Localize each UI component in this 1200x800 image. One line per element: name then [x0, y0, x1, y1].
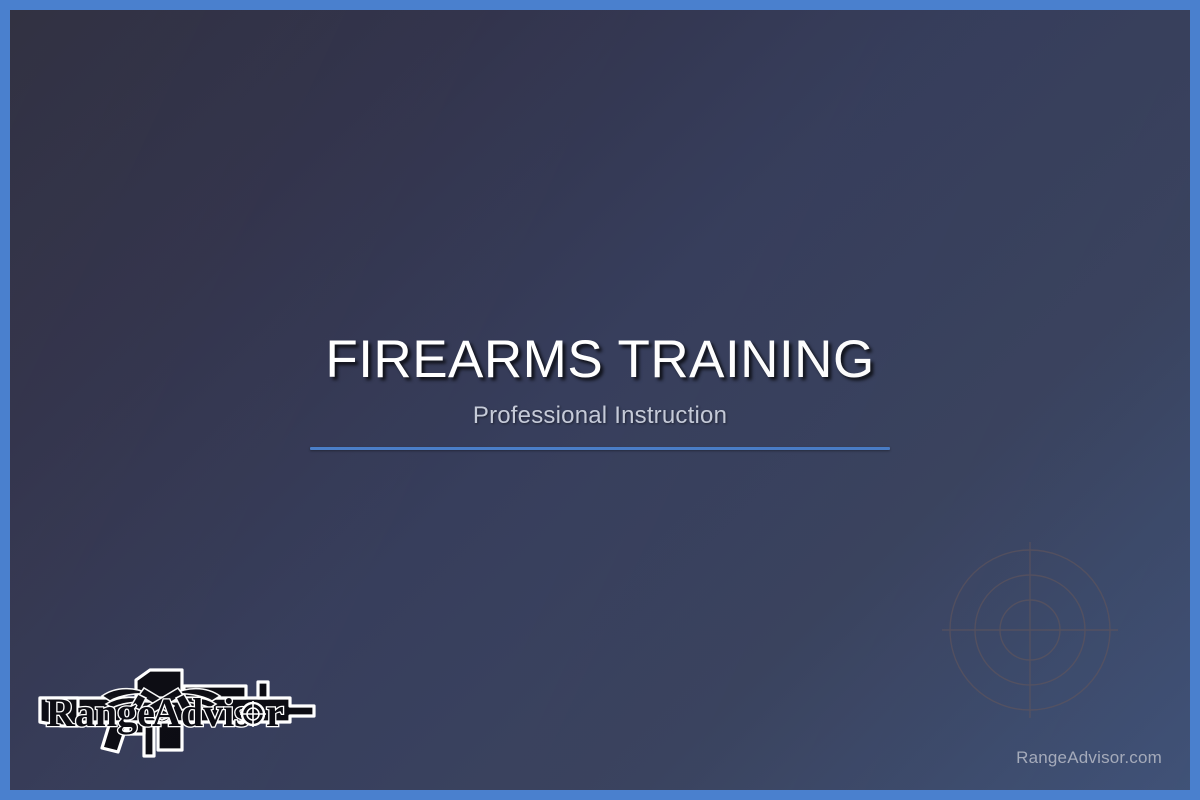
- footer-website-url: RangeAdvisor.com: [1016, 748, 1162, 768]
- title-block: FIREARMS TRAINING Professional Instructi…: [10, 332, 1190, 450]
- page-title: FIREARMS TRAINING: [10, 332, 1190, 388]
- logo-wordmark-r: r: [266, 690, 284, 735]
- logo-wordmark-advis: Advis: [152, 690, 250, 735]
- page-subtitle: Professional Instruction: [10, 402, 1190, 430]
- crosshair-target-icon: [940, 540, 1120, 720]
- presentation-slide: FIREARMS TRAINING Professional Instructi…: [0, 0, 1200, 800]
- slide-canvas: FIREARMS TRAINING Professional Instructi…: [10, 10, 1190, 790]
- logo-wordmark-range: Range: [46, 690, 155, 735]
- rangeadvisor-rifle-logo: Range Advis r: [32, 660, 322, 760]
- accent-divider: [310, 447, 890, 450]
